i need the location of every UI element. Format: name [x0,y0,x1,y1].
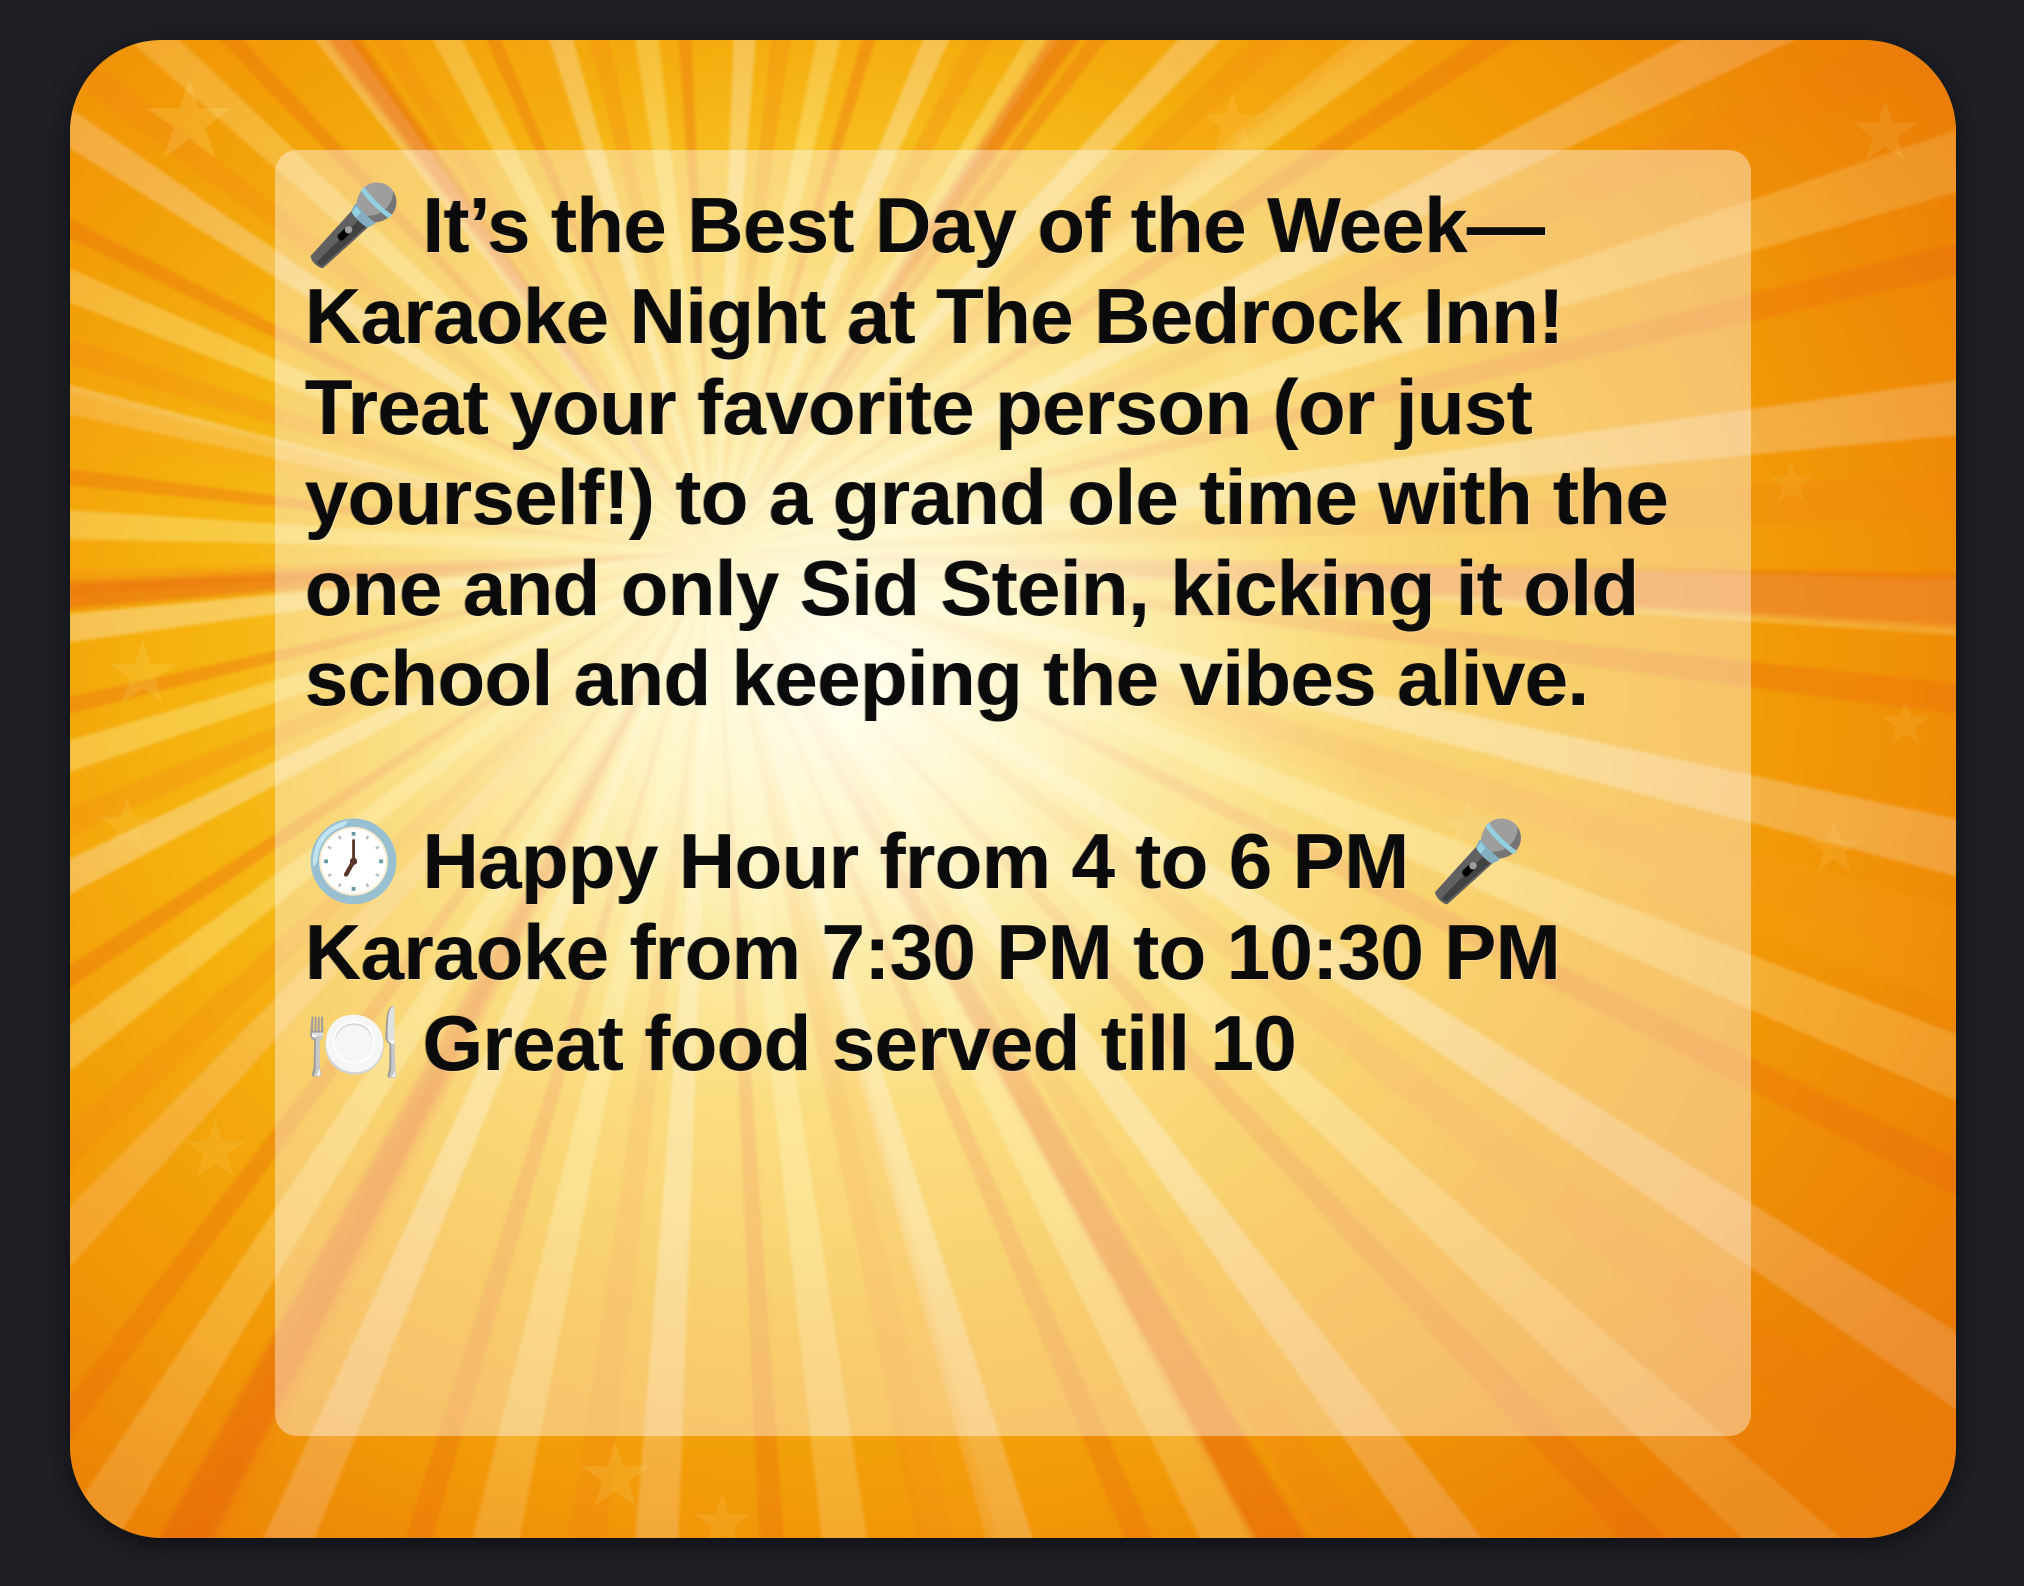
poster-message-text: 🎤 It’s the Best Day of the Week—Karaoke … [305,180,1715,1089]
microphone-emoji: 🎤 [1430,817,1527,907]
detail-line-1: Happy Hour from 4 to 6 PM [423,817,1409,905]
screenshot-canvas: 🎤 It’s the Best Day of the Week—Karaoke … [0,0,2024,1586]
fork-and-knife-with-plate-emoji: 🍽️ [305,999,402,1089]
paragraph-spacer [305,724,1715,816]
paragraph-1-text: It’s the Best Day of the Week—Karaoke Ni… [305,181,1689,722]
clock-emoji: 🕖 [305,817,402,907]
microphone-emoji: 🎤 [305,181,402,271]
detail-line-3: Great food served till 10 [423,999,1297,1087]
karaoke-poster-card[interactable]: 🎤 It’s the Best Day of the Week—Karaoke … [70,40,1956,1538]
message-panel: 🎤 It’s the Best Day of the Week—Karaoke … [275,150,1751,1436]
detail-line-2: Karaoke from 7:30 PM to 10:30 PM [305,908,1560,996]
